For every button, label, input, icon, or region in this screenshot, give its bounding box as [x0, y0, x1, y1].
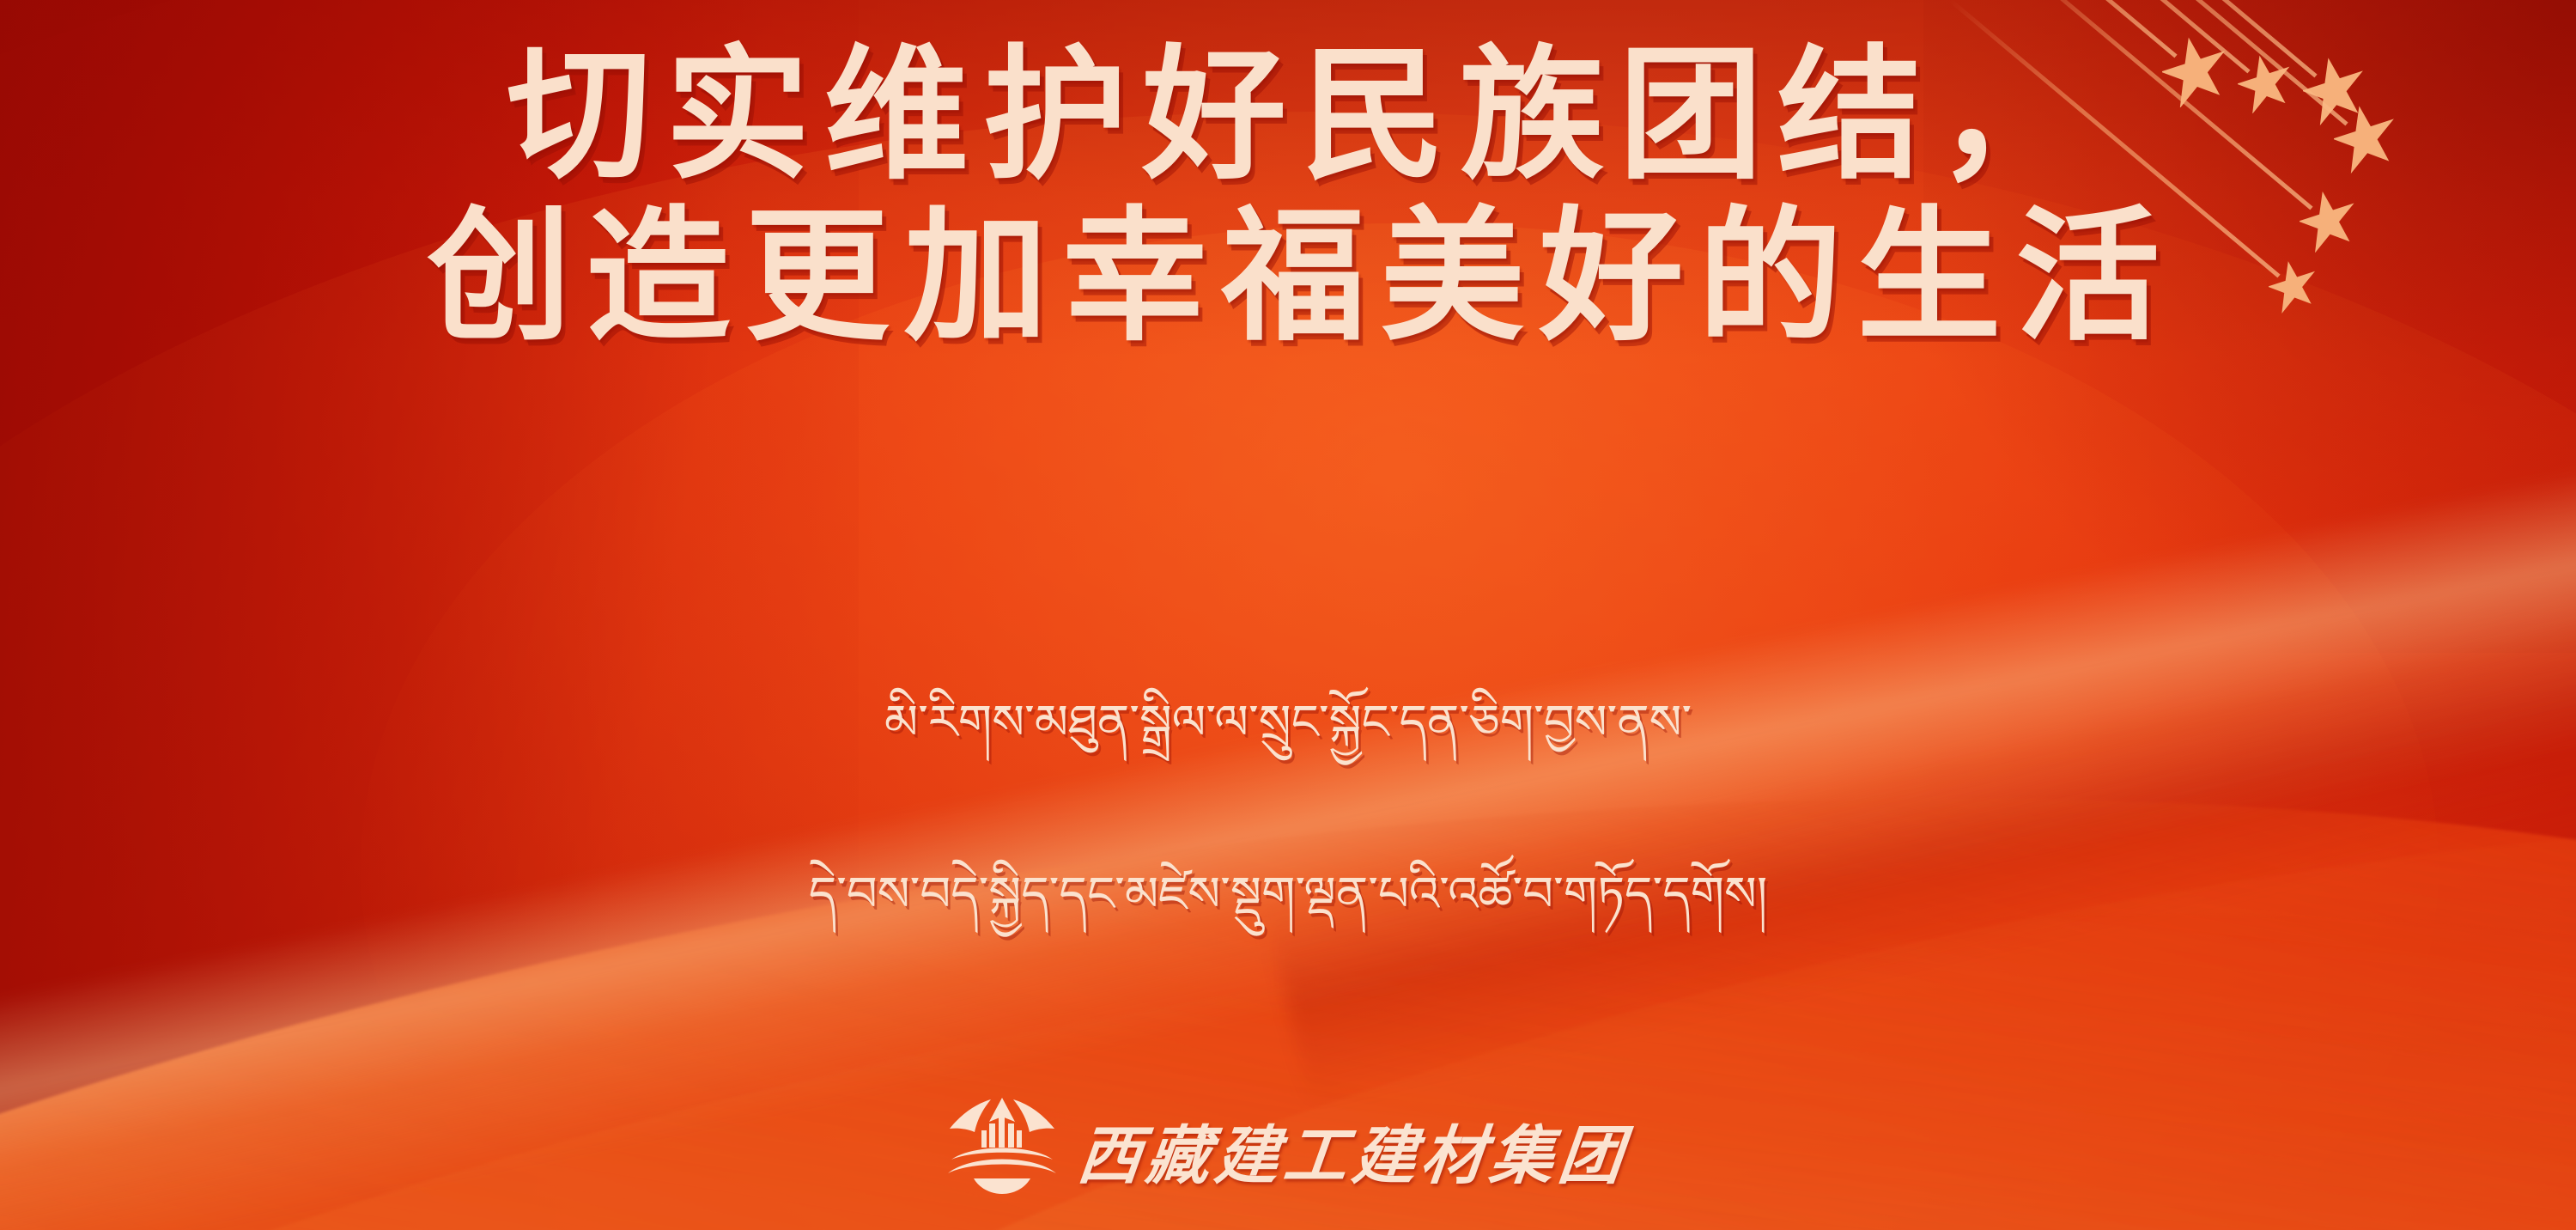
headline-line-2: 创造更加幸福美好的生活 [0, 198, 2576, 359]
company-name: 西藏建工建材集团 [1073, 1105, 1632, 1197]
mountain-building-emblem-icon [948, 1098, 1056, 1203]
company-logo: 西藏建工建材集团 [0, 1098, 2576, 1203]
headline-line-1: 切实维护好民族团结， [0, 36, 2576, 198]
propaganda-banner: 切实维护好民族团结， 创造更加幸福美好的生活 མི་རིགས་མཐུན་སྒྲི… [0, 0, 2576, 1230]
tibetan-line-1: མི་རིགས་མཐུན་སྒྲིལ་ལ་སྲུང་སྐྱོང་དན་ཅིག་བ… [0, 687, 2576, 759]
tibetan-line-2: དེ་བས་བདེ་སྐྱིད་དང་མཛེས་སྡུག་ལྡན་པའི་འཚོ… [0, 859, 2576, 931]
